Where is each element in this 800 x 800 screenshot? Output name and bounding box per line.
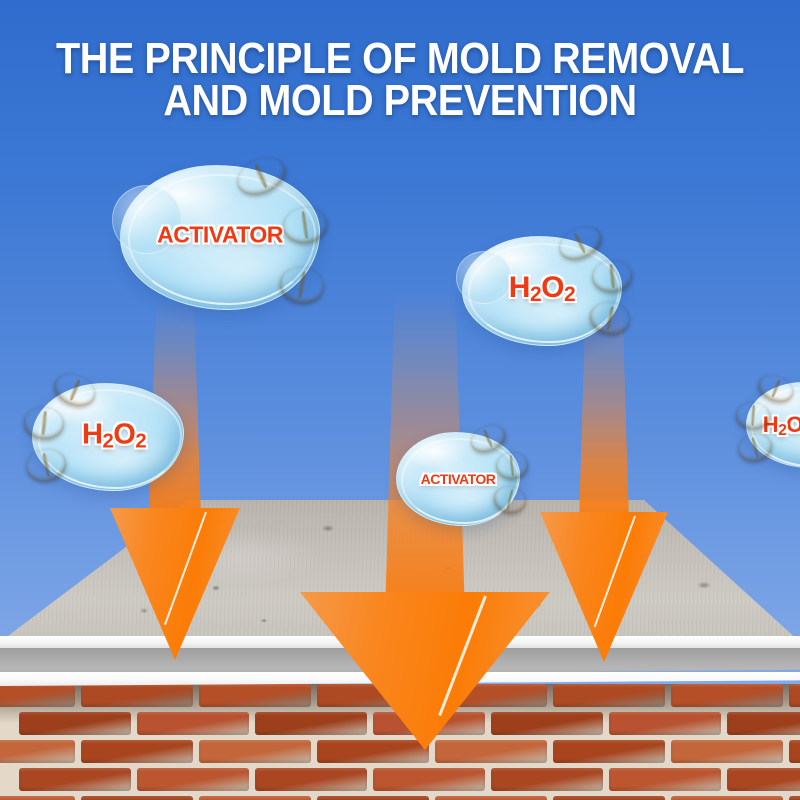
brick [727,768,800,791]
brick [0,796,75,800]
title-line-2: AND MOLD PREVENTION [40,80,760,122]
brick [491,768,603,791]
brick [373,768,485,791]
brick [81,740,193,763]
penetration-arrow-right [540,300,668,662]
brick [81,796,193,800]
brick [0,684,75,707]
bubble-label-h2o2: H2O2 [44,418,184,451]
page-title: THE PRINCIPLE OF MOLD REMOVAL AND MOLD P… [0,38,800,122]
brick [199,684,311,707]
brick [0,740,75,763]
brick-row [0,768,800,796]
brick [553,684,665,707]
bubble-h2o2-edge-right: H2O [746,382,800,468]
brick [671,740,783,763]
brick [199,796,311,800]
brick [553,740,665,763]
brick [609,768,721,791]
brick [19,768,131,791]
brick [671,796,783,800]
brick-row [0,796,800,800]
brick [255,768,367,791]
brick [789,740,800,763]
brick [199,740,311,763]
bubble-h2o2-left: H2O2 [32,383,184,491]
brick [137,712,249,735]
brick [81,684,193,707]
brick [789,796,800,800]
bubble-activator-small: ACTIVATOR [396,432,520,526]
infographic-canvas: ACTIVATOR H2O2 H2O2 ACTIVATOR [0,0,800,800]
brick [317,796,429,800]
brick [609,712,721,735]
brick [137,768,249,791]
title-line-1: THE PRINCIPLE OF MOLD REMOVAL [40,38,760,80]
brick [671,684,783,707]
brick [19,712,131,735]
brick [435,796,547,800]
bubble-activator-large: ACTIVATOR [120,165,320,310]
bubble-h2o2-upper-right: H2O2 [462,236,622,346]
brick [553,796,665,800]
brick [789,684,800,707]
brick [727,712,800,735]
